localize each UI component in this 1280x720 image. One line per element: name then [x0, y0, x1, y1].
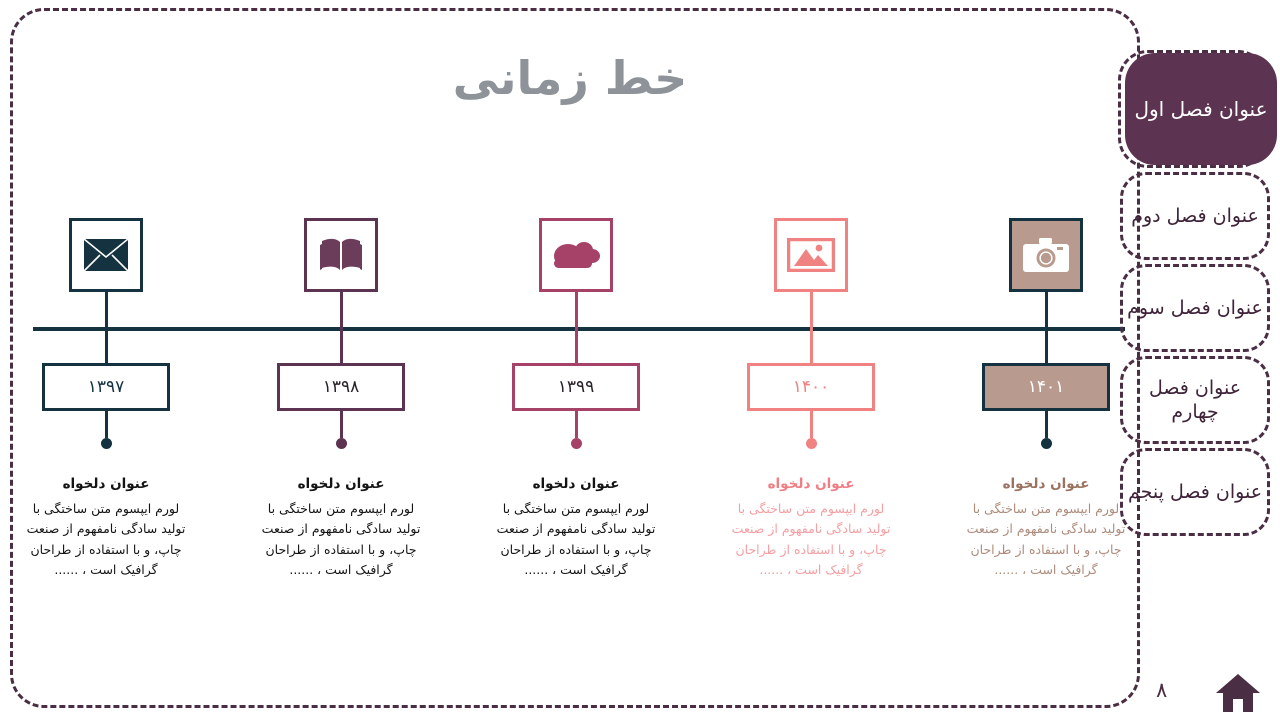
connector-stem-bottom [575, 411, 578, 438]
connector-stem-top [105, 292, 108, 329]
connector-stem-axis [575, 329, 578, 363]
sidebar-item-label: عنوان فصل پنجم [1128, 480, 1262, 504]
sidebar-item-chapter-5[interactable]: عنوان فصل پنجم [1120, 448, 1270, 536]
connector-stem-top [810, 292, 813, 329]
sidebar-item-label: عنوان فصل چهارم [1123, 376, 1267, 425]
timeline-column: ۱۴۰۰عنوان دلخواهلورم ایپسوم متن ساختگی ب… [711, 218, 911, 580]
timeline-icon-box[interactable] [774, 218, 848, 292]
year-label: ۱۳۹۹ [558, 377, 595, 397]
cloud-icon [551, 237, 601, 273]
connector-stem-top [575, 292, 578, 329]
timeline-body-text: لورم ایپسوم متن ساختگی با تولید سادگی نا… [946, 499, 1146, 580]
timeline-node-dot [1041, 438, 1052, 449]
open-book-icon [319, 236, 363, 274]
connector-stem-bottom [1045, 411, 1048, 438]
sidebar-item-chapter-3[interactable]: عنوان فصل سوم [1120, 264, 1270, 352]
timeline-heading: عنوان دلخواه [476, 476, 676, 492]
year-label: ۱۴۰۰ [793, 377, 830, 397]
connector-stem-bottom [105, 411, 108, 438]
timeline-heading: عنوان دلخواه [6, 476, 206, 492]
connector-stem-bottom [340, 411, 343, 438]
timeline-body-text: لورم ایپسوم متن ساختگی با تولید سادگی نا… [711, 499, 911, 580]
timeline-heading: عنوان دلخواه [946, 476, 1146, 492]
page-title: خط زمانی [0, 52, 1140, 105]
home-icon[interactable] [1215, 672, 1261, 714]
timeline-icon-box[interactable] [1009, 218, 1083, 292]
sidebar-item-chapter-2[interactable]: عنوان فصل دوم [1120, 172, 1270, 260]
picture-icon [787, 238, 835, 272]
camera-icon [1022, 237, 1070, 273]
connector-stem-axis [105, 329, 108, 363]
year-box[interactable]: ۱۴۰۱ [982, 363, 1110, 411]
timeline-body-text: لورم ایپسوم متن ساختگی با تولید سادگی نا… [6, 499, 206, 580]
year-label: ۱۴۰۱ [1028, 377, 1065, 397]
connector-stem-top [1045, 292, 1048, 329]
sidebar-item-chapter-1[interactable]: عنوان فصل اول [1118, 50, 1270, 172]
timeline-column: ۱۳۹۷عنوان دلخواهلورم ایپسوم متن ساختگی ب… [6, 218, 206, 580]
connector-stem-axis [1045, 329, 1048, 363]
sidebar-item-label: عنوان فصل اول [1134, 96, 1267, 122]
timeline-node-dot [336, 438, 347, 449]
year-box[interactable]: ۱۳۹۹ [512, 363, 640, 411]
timeline-icon-box[interactable] [69, 218, 143, 292]
timeline-node-dot [101, 438, 112, 449]
timeline-body-text: لورم ایپسوم متن ساختگی با تولید سادگی نا… [241, 499, 441, 580]
sidebar-item-chapter-4[interactable]: عنوان فصل چهارم [1120, 356, 1270, 444]
connector-stem-axis [340, 329, 343, 363]
timeline-column: ۱۴۰۱عنوان دلخواهلورم ایپسوم متن ساختگی ب… [946, 218, 1146, 580]
year-box[interactable]: ۱۴۰۰ [747, 363, 875, 411]
timeline-heading: عنوان دلخواه [711, 476, 911, 492]
year-box[interactable]: ۱۳۹۷ [42, 363, 170, 411]
timeline-icon-box[interactable] [304, 218, 378, 292]
connector-stem-axis [810, 329, 813, 363]
timeline-node-dot [806, 438, 817, 449]
year-label: ۱۳۹۸ [323, 377, 360, 397]
sidebar-item-label: عنوان فصل سوم [1127, 296, 1263, 320]
envelope-icon [83, 238, 129, 272]
sidebar-item-active-pill[interactable]: عنوان فصل اول [1125, 53, 1277, 165]
timeline-body-text: لورم ایپسوم متن ساختگی با تولید سادگی نا… [476, 499, 676, 580]
timeline-column: ۱۳۹۸عنوان دلخواهلورم ایپسوم متن ساختگی ب… [241, 218, 441, 580]
sidebar-item-label: عنوان فصل دوم [1131, 204, 1259, 228]
year-label: ۱۳۹۷ [88, 377, 125, 397]
year-box[interactable]: ۱۳۹۸ [277, 363, 405, 411]
connector-stem-bottom [810, 411, 813, 438]
page-number: ۸ [1156, 678, 1167, 702]
chapter-sidebar: عنوان فصل اولعنوان فصل دومعنوان فصل سومع… [1118, 50, 1270, 540]
timeline-heading: عنوان دلخواه [241, 476, 441, 492]
timeline-icon-box[interactable] [539, 218, 613, 292]
timeline-node-dot [571, 438, 582, 449]
connector-stem-top [340, 292, 343, 329]
timeline-column: ۱۳۹۹عنوان دلخواهلورم ایپسوم متن ساختگی ب… [476, 218, 676, 580]
